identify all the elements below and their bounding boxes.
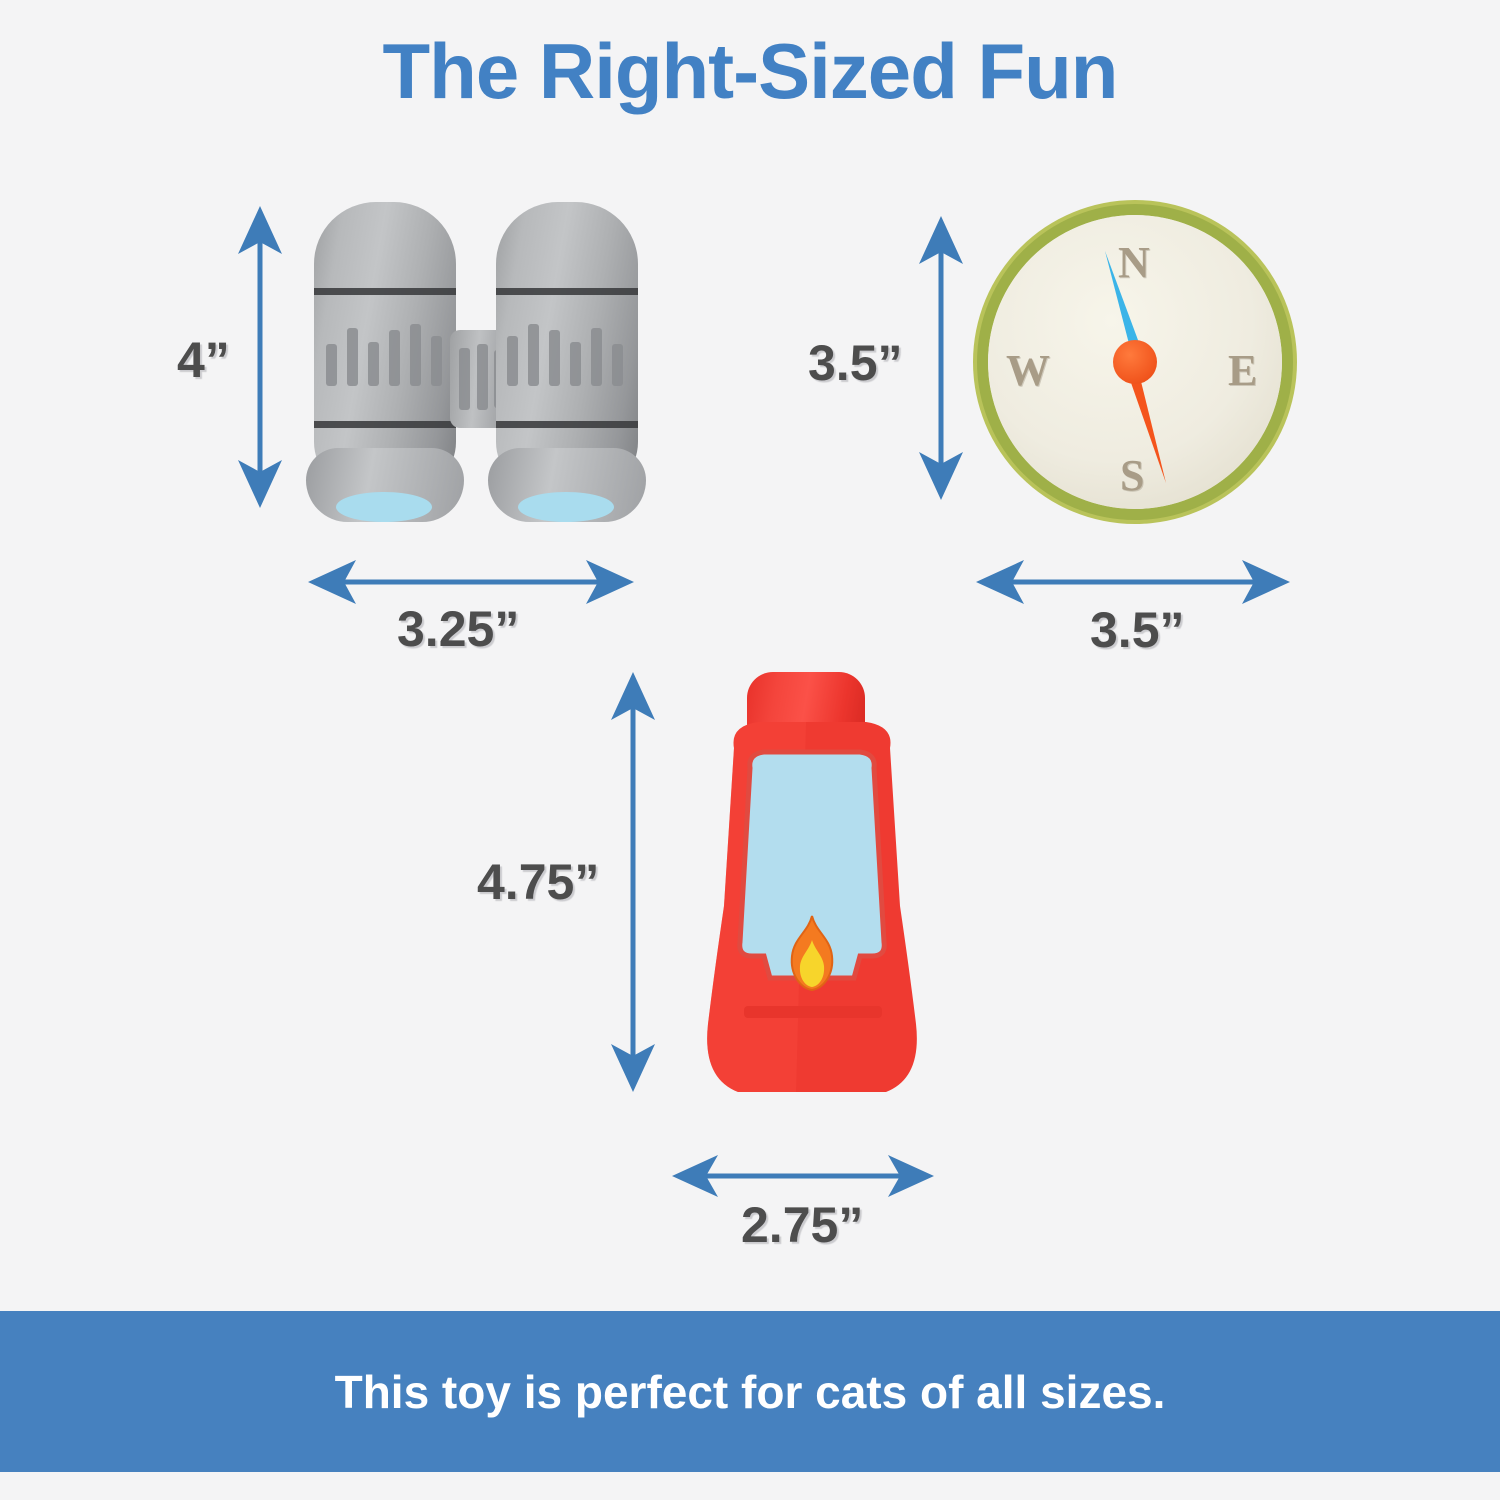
binoculars-right-band-top xyxy=(496,288,638,295)
binoculars-rib xyxy=(549,330,560,386)
binoculars-rib xyxy=(507,336,518,386)
binoculars-height-arrow xyxy=(229,198,291,516)
binoculars-width-label: 3.25” xyxy=(397,600,519,658)
page-title: The Right-Sized Fun xyxy=(0,26,1500,117)
binoculars-rib xyxy=(389,330,400,386)
binoculars-rib xyxy=(347,328,358,386)
binoculars-left-lens xyxy=(336,492,432,522)
binoculars-rib xyxy=(459,348,470,410)
lantern-toy-image xyxy=(672,672,952,1102)
binoculars-right-lens xyxy=(518,492,614,522)
lantern-height-arrow xyxy=(602,666,664,1098)
lantern-glass-panel xyxy=(672,706,952,1102)
binoculars-left-band-top xyxy=(314,288,456,295)
binoculars-right-band-bottom xyxy=(496,421,638,428)
binoculars-toy-image xyxy=(300,196,650,526)
binoculars-rib xyxy=(591,328,602,386)
bottom-banner: This toy is perfect for cats of all size… xyxy=(0,1311,1500,1472)
infographic-page: The Right-Sized Fun 4” xyxy=(0,0,1500,1500)
binoculars-rib xyxy=(477,344,488,410)
compass-height-arrow xyxy=(910,210,972,506)
lantern-height-label: 4.75” xyxy=(477,853,599,911)
binoculars-left-band-bottom xyxy=(314,421,456,428)
binoculars-height-label: 4” xyxy=(177,331,230,389)
binoculars-rib xyxy=(612,344,623,386)
binoculars-rib xyxy=(528,324,539,386)
compass-toy-image: N E S W xyxy=(988,215,1282,509)
binoculars-rib xyxy=(326,344,337,386)
lantern-flame-icon xyxy=(770,912,854,1012)
compass-height-label: 3.5” xyxy=(808,334,903,392)
binoculars-rib xyxy=(410,324,421,386)
binoculars-rib xyxy=(570,342,581,386)
banner-text: This toy is perfect for cats of all size… xyxy=(335,1365,1166,1419)
lantern-base-bar xyxy=(744,1006,882,1018)
compass-needle-hub xyxy=(1113,340,1157,384)
lantern-width-label: 2.75” xyxy=(741,1196,863,1254)
binoculars-rib xyxy=(431,336,442,386)
compass-width-label: 3.5” xyxy=(1090,601,1185,659)
binoculars-rib xyxy=(368,342,379,386)
